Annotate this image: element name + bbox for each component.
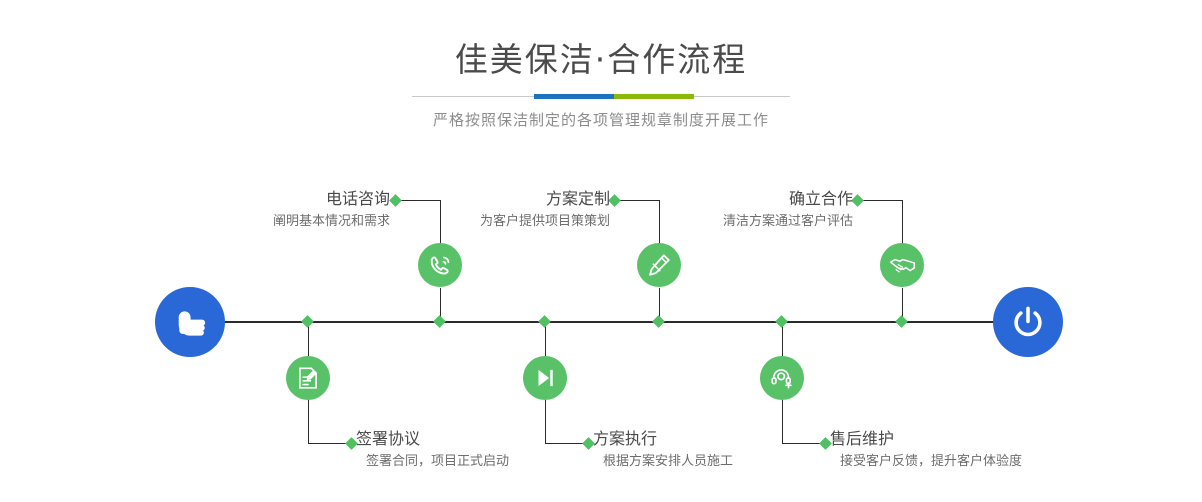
step-title-2: 电话咨询 [150, 188, 390, 210]
pencil-edit-icon [646, 252, 672, 278]
connector-v-1b [308, 400, 309, 444]
connector-v-3b [545, 400, 546, 444]
step-label-4: 方案定制 为客户提供项目策策划 [430, 188, 610, 232]
step-icon-3 [523, 356, 567, 400]
axis-marker-3 [538, 315, 551, 328]
step-desc-3: 根据方案安排人员施工 [589, 450, 733, 472]
step-desc-4: 为客户提供项目策策划 [430, 210, 610, 232]
step-label-6: 确立合作 清洁方案通过客户评估 [680, 188, 853, 232]
cooperation-process-infographic: 佳美保洁·合作流程 严格按照保洁制定的各项管理规章制度开展工作 [0, 0, 1202, 502]
axis-marker-5 [775, 315, 788, 328]
step-icon-1 [286, 356, 330, 400]
step-label-2: 电话咨询 阐明基本情况和需求 [150, 188, 390, 232]
axis-marker-6 [895, 315, 908, 328]
step-title-6: 确立合作 [680, 188, 853, 210]
label-marker-2 [389, 194, 402, 207]
connector-h-6 [858, 200, 902, 201]
timeline-end-node [993, 287, 1063, 357]
step-desc-2: 阐明基本情况和需求 [150, 210, 390, 232]
document-edit-icon [295, 365, 321, 391]
step-title-3: 方案执行 [589, 428, 733, 450]
step-label-5: 售后维护 接受客户反馈，提升客户体验度 [826, 428, 1022, 472]
phone-call-icon [427, 252, 454, 279]
play-skip-icon [532, 365, 558, 391]
handshake-icon [889, 252, 916, 279]
step-icon-2 [418, 243, 462, 287]
step-icon-4 [637, 243, 681, 287]
axis-marker-2 [433, 315, 446, 328]
label-marker-6 [851, 194, 864, 207]
connector-h-4 [615, 200, 659, 201]
axis-marker-1 [301, 315, 314, 328]
power-icon [1009, 303, 1047, 341]
step-desc-6: 清洁方案通过客户评估 [680, 210, 853, 232]
step-desc-1: 签署合同，项目正式启动 [352, 450, 509, 472]
process-timeline: 签署协议 签署合同，项目正式启动 电话咨询 阐明基本情况和需求 [0, 0, 1202, 502]
support-agent-icon [769, 365, 795, 391]
connector-v-6b [902, 200, 903, 244]
label-marker-4 [608, 194, 621, 207]
axis-marker-4 [652, 315, 665, 328]
step-desc-5: 接受客户反馈，提升客户体验度 [826, 450, 1022, 472]
step-label-3: 方案执行 根据方案安排人员施工 [589, 428, 733, 472]
timeline-start-node [155, 287, 225, 357]
step-title-1: 签署协议 [352, 428, 509, 450]
step-label-1: 签署协议 签署合同，项目正式启动 [352, 428, 509, 472]
connector-v-5b [782, 400, 783, 444]
step-icon-5 [760, 356, 804, 400]
pointing-hand-icon [171, 303, 209, 341]
step-title-4: 方案定制 [430, 188, 610, 210]
step-icon-6 [880, 243, 924, 287]
connector-v-4b [659, 200, 660, 244]
step-title-5: 售后维护 [826, 428, 1022, 450]
